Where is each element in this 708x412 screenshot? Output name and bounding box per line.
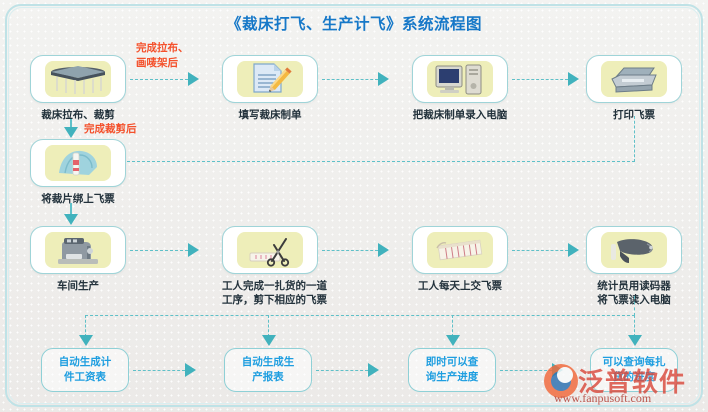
annotation-after-spreading: 完成拉布、 画唛架后 (136, 41, 189, 71)
connector-n4-n5 (112, 161, 635, 162)
node-label: 将裁片绑上飞票 (30, 192, 126, 206)
connector-o1-o2 (133, 370, 185, 371)
output-box-piecework-wages[interactable]: 自动生成计 件工资表 (41, 348, 129, 392)
arrow-n7-n8 (378, 243, 389, 257)
connector-bus-o2 (268, 315, 269, 337)
connector-n1-n2 (130, 79, 188, 80)
node-cut-matching-ticket: 工人完成一扎货的一道 工序，剪下相应的飞票 (222, 226, 318, 307)
node-icon-frame (30, 139, 126, 187)
connector-output-bus (85, 315, 635, 316)
output-label-line-2: 产报表 (242, 370, 295, 385)
cutting-table-icon (45, 61, 111, 97)
flowchart-canvas: 《裁床打飞、生产计飞》系统流程图 (0, 0, 708, 412)
node-label: 工人完成一扎货的一道 工序，剪下相应的飞票 (222, 279, 318, 307)
node-workshop-production: 车间生产 (30, 226, 126, 293)
connector-bus-o1 (85, 315, 86, 337)
node-scan-tickets: 统计员用读码器 将飞票读入电脑 (586, 226, 682, 307)
node-fill-cutting-order: 填写裁床制单 (222, 55, 318, 122)
arrow-n5-n6 (64, 214, 78, 225)
arrow-n1-n2 (188, 72, 199, 86)
output-label-line-1: 自动生成生 (242, 355, 295, 370)
node-submit-tickets-daily: 工人每天上交飞票 (412, 226, 508, 293)
arrow-o3-o4 (552, 363, 563, 377)
node-icon-frame (586, 55, 682, 103)
connector-n2-n3 (322, 79, 378, 80)
ticket-stack-icon (427, 232, 493, 268)
desktop-computer-icon (427, 61, 493, 97)
node-label-line-1: 工人完成一扎货的一道 (222, 279, 318, 293)
node-icon-frame (222, 55, 318, 103)
node-enter-into-computer: 把裁床制单录入电脑 (412, 55, 508, 122)
arrow-n1-n5 (64, 127, 78, 138)
connector-n3-n4 (512, 79, 568, 80)
node-icon-frame (30, 226, 126, 274)
output-box-production-report[interactable]: 自动生成生 产报表 (224, 348, 312, 392)
connector-bus-o3 (452, 315, 453, 337)
arrow-bus-o1 (79, 335, 93, 346)
arrow-bus-o4 (628, 335, 642, 346)
node-icon-frame (222, 226, 318, 274)
arrow-n8-n9 (568, 243, 579, 257)
document-pencil-icon (237, 61, 303, 97)
node-label: 填写裁床制单 (222, 108, 318, 122)
output-label-line-2: 询生产进度 (426, 370, 479, 385)
page-title: 《裁床打飞、生产计飞》系统流程图 (0, 12, 708, 34)
connector-n6-n7 (130, 250, 188, 251)
output-box-query-progress[interactable]: 即时可以查 询生产进度 (408, 348, 496, 392)
node-icon-frame (30, 55, 126, 103)
connector-n7-n8 (322, 250, 378, 251)
node-cutting-table: 裁床拉布、裁剪 (30, 55, 126, 122)
arrow-o1-o2 (185, 363, 196, 377)
annotation-line-1: 完成拉布、 (136, 41, 189, 56)
node-label: 把裁床制单录入电脑 (412, 108, 508, 122)
output-label-line-1: 即时可以查 (426, 355, 479, 370)
arrow-n3-n4 (568, 72, 579, 86)
fabric-bundle-icon (45, 145, 111, 181)
watermark-url: www.fanpusoft.com (554, 391, 651, 406)
connector-o3-o4 (500, 370, 552, 371)
arrow-n2-n3 (378, 72, 389, 86)
node-label-line-1: 统计员用读码器 (586, 279, 682, 293)
connector-n9-down (634, 296, 635, 316)
connector-n4-down (634, 116, 635, 162)
arrow-bus-o3 (446, 335, 460, 346)
node-label: 车间生产 (30, 279, 126, 293)
node-icon-frame (412, 226, 508, 274)
scissors-ticket-icon (237, 232, 303, 268)
output-label-line-2: 货的进度 (603, 370, 666, 385)
node-label: 裁床拉布、裁剪 (30, 108, 126, 122)
output-box-query-bundle[interactable]: 可以查询每扎 货的进度 (590, 348, 678, 392)
barcode-scanner-icon (601, 232, 667, 268)
output-label-line-1: 自动生成计 (59, 355, 112, 370)
output-label-line-1: 可以查询每扎 (603, 355, 666, 370)
annotation-line-2: 画唛架后 (136, 56, 189, 71)
output-label-line-2: 件工资表 (59, 370, 112, 385)
node-label: 工人每天上交飞票 (412, 279, 508, 293)
arrow-bus-o2 (262, 335, 276, 346)
annotation-after-cutting: 完成裁剪后 (84, 122, 137, 137)
node-tie-ticket-to-pieces: 将裁片绑上飞票 (30, 139, 126, 206)
connector-n8-n9 (512, 250, 568, 251)
node-print-ticket: 打印飞票 (586, 55, 682, 122)
connector-o2-o3 (316, 370, 368, 371)
node-icon-frame (412, 55, 508, 103)
printer-icon (601, 61, 667, 97)
connector-bus-o4 (634, 315, 635, 337)
arrow-n6-n7 (188, 243, 199, 257)
node-label-line-2: 工序，剪下相应的飞票 (222, 293, 318, 307)
sewing-machine-icon (45, 232, 111, 268)
node-icon-frame (586, 226, 682, 274)
arrow-o2-o3 (368, 363, 379, 377)
